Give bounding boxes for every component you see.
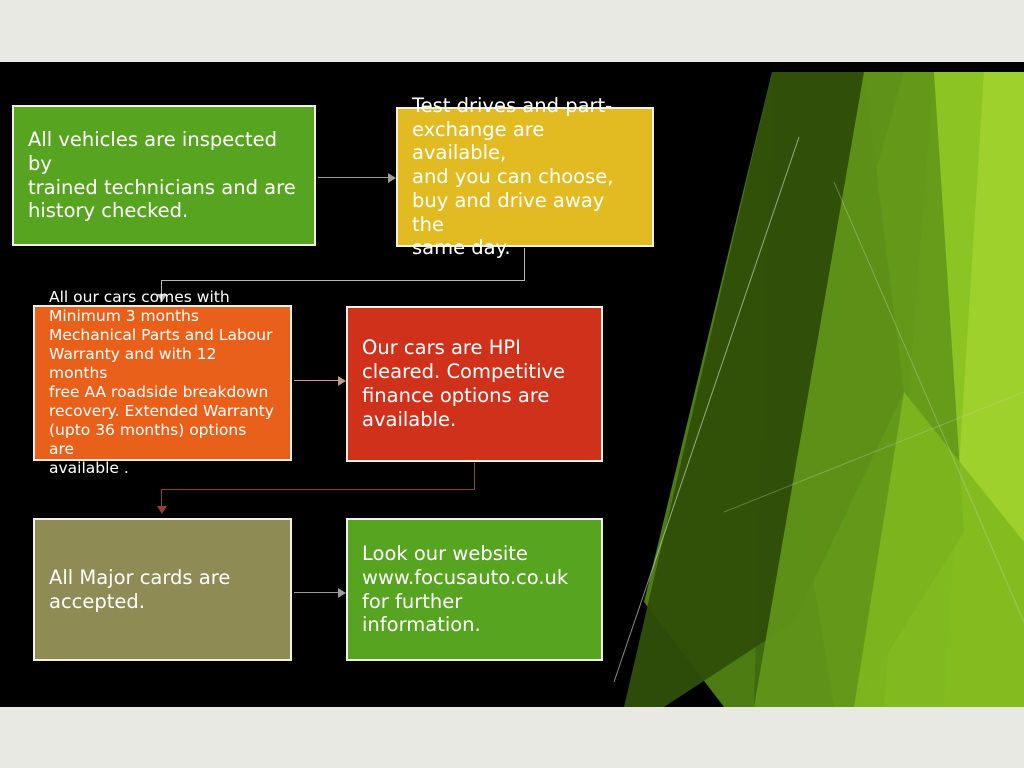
letterbox-top xyxy=(0,0,1024,62)
website-box-text: Look our website www.focusauto.co.uk for… xyxy=(362,542,587,637)
website-box[interactable]: Look our website www.focusauto.co.uk for… xyxy=(346,518,603,661)
green-polygon-decoration xyxy=(604,62,1024,707)
letterbox-bottom xyxy=(0,707,1024,768)
warranty-box-text: All our cars comes with Minimum 3 months… xyxy=(49,288,276,477)
payment-cards-box-text: All Major cards are accepted. xyxy=(49,566,276,614)
inspection-box[interactable]: All vehicles are inspected by trained te… xyxy=(12,105,316,246)
hpi-finance-box[interactable]: Our cars are HPI cleared. Competitive fi… xyxy=(346,306,603,462)
inspection-box-text: All vehicles are inspected by trained te… xyxy=(28,128,300,223)
payment-cards-box[interactable]: All Major cards are accepted. xyxy=(33,518,292,661)
test-drive-box[interactable]: Test drives and part- exchange are avail… xyxy=(396,107,654,247)
presentation-slide: All vehicles are inspected by trained te… xyxy=(0,62,1024,707)
hpi-finance-box-text: Our cars are HPI cleared. Competitive fi… xyxy=(362,336,587,431)
warranty-box[interactable]: All our cars comes with Minimum 3 months… xyxy=(33,305,292,461)
slide-viewer: All vehicles are inspected by trained te… xyxy=(0,0,1024,768)
test-drive-box-text: Test drives and part- exchange are avail… xyxy=(412,94,638,260)
